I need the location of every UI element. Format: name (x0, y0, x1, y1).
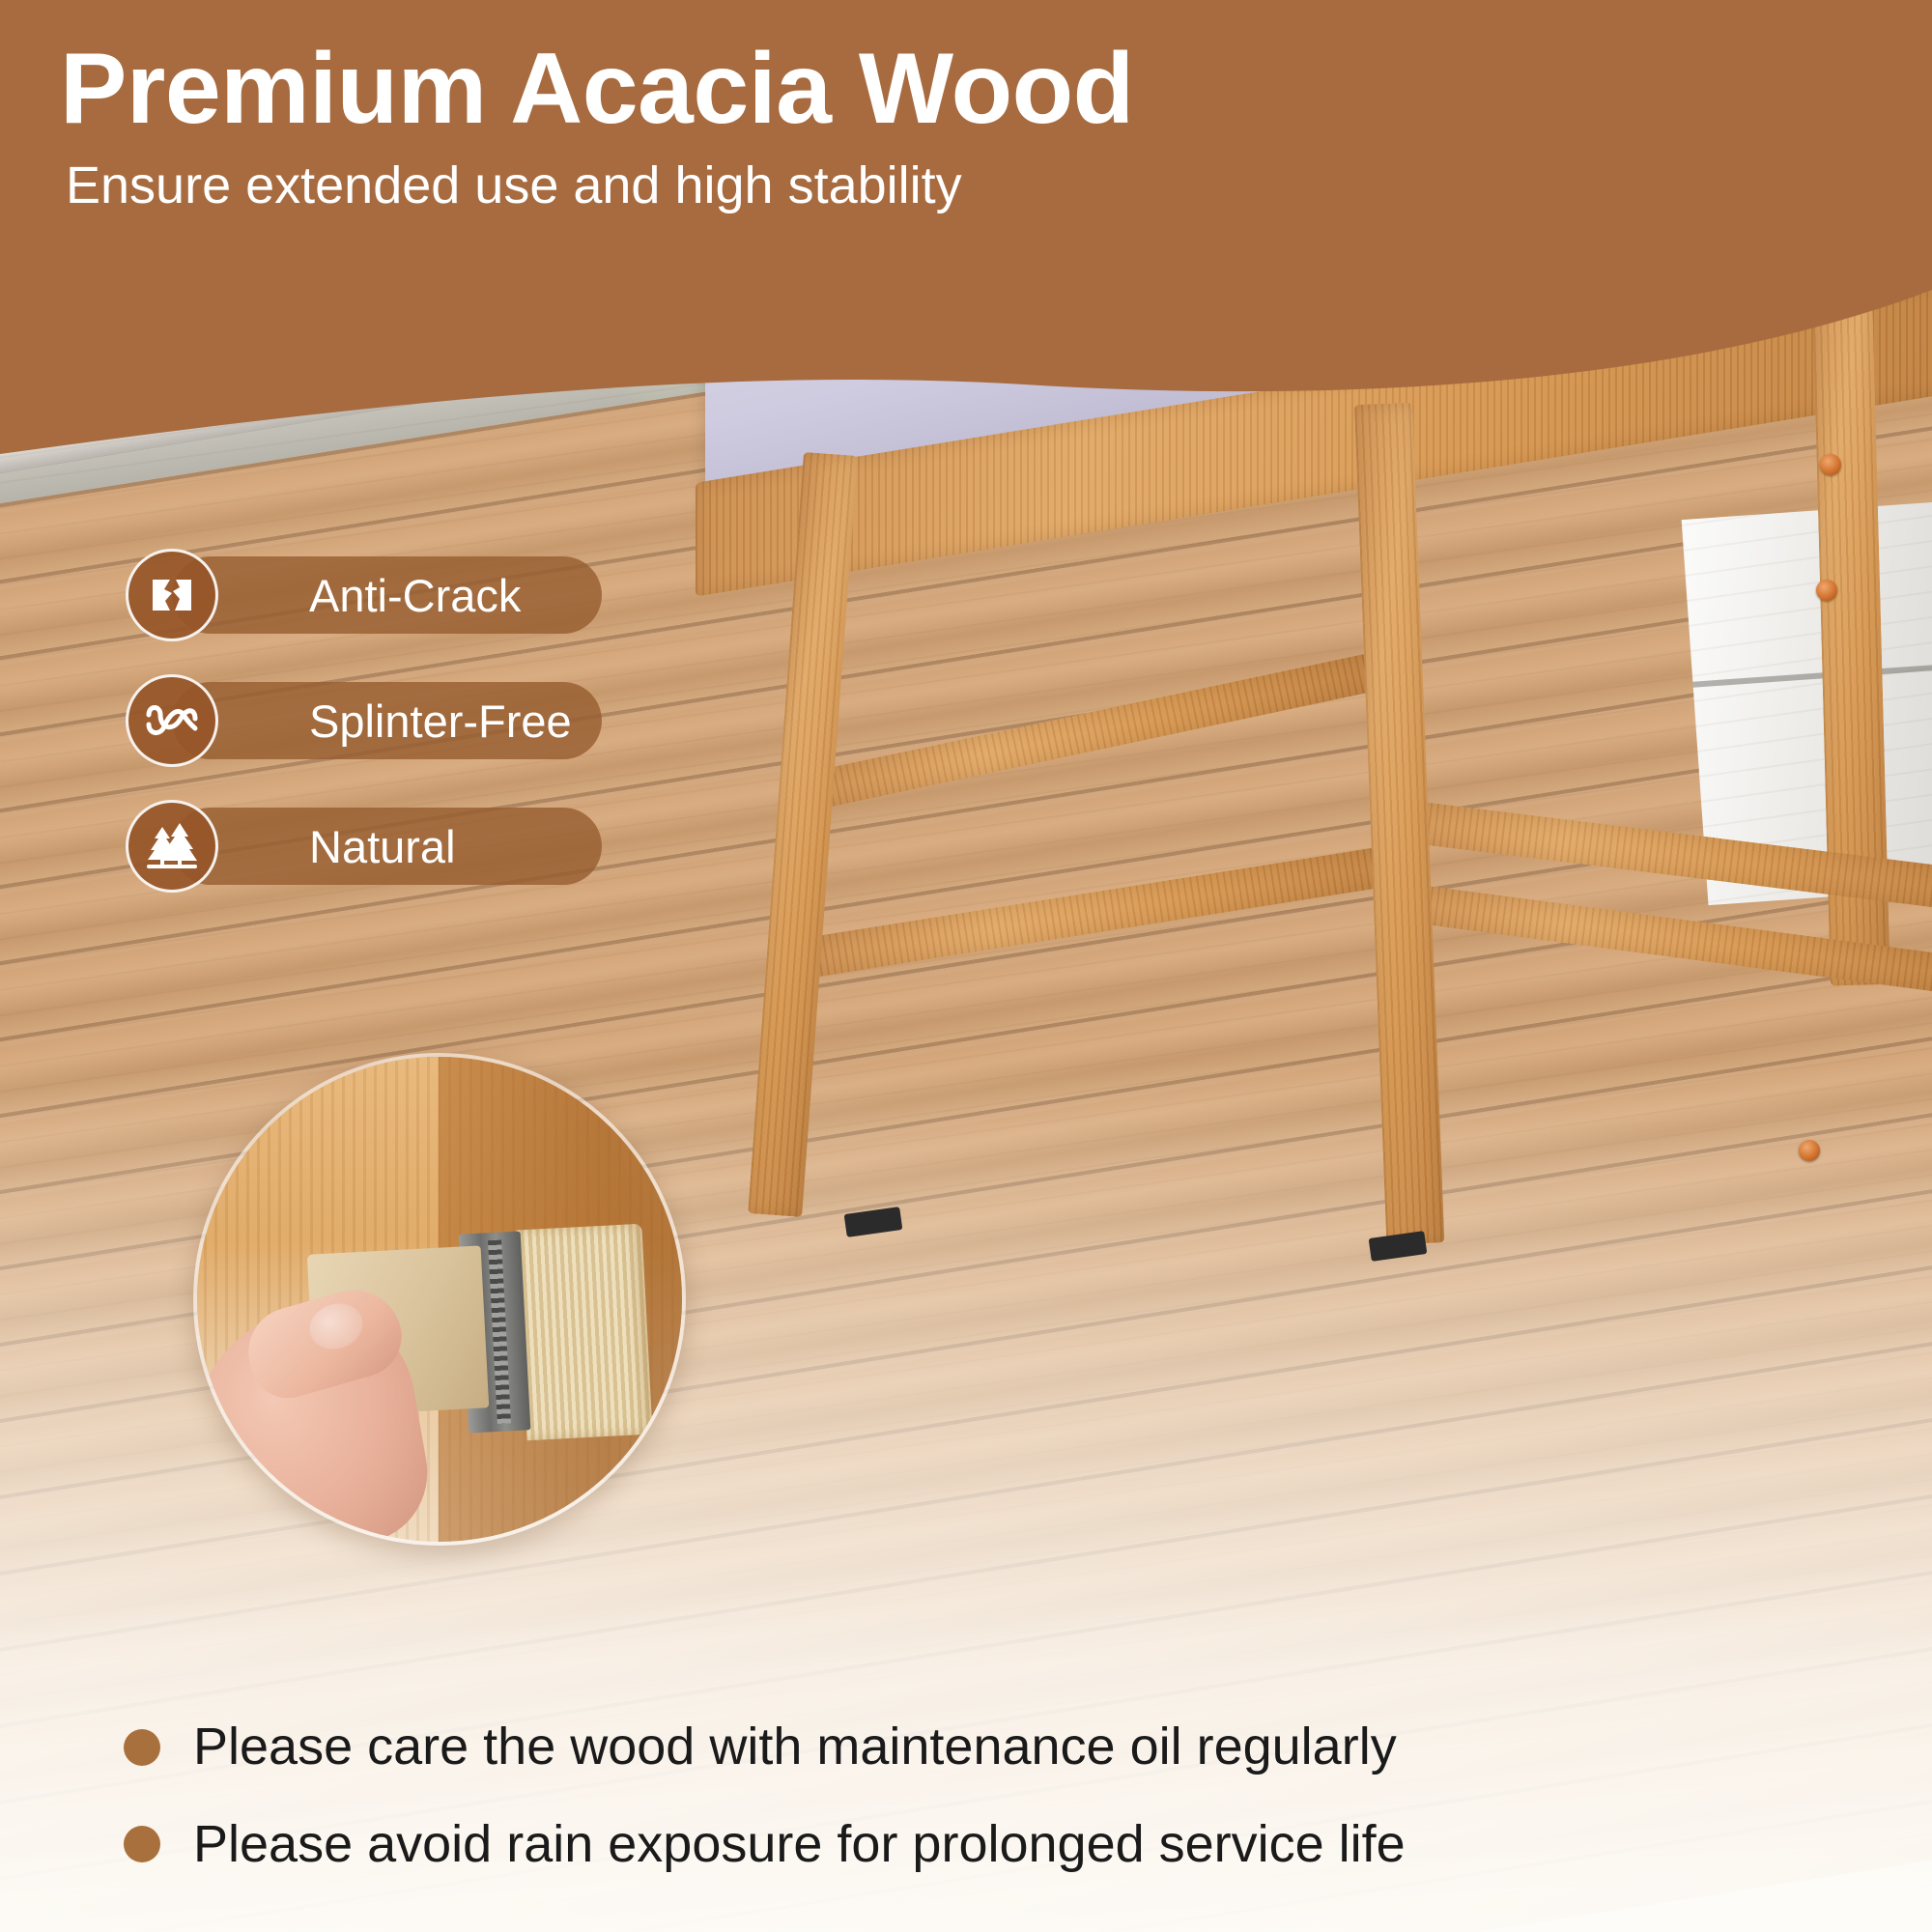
oil-application-closeup (193, 1053, 686, 1546)
feature-label: Natural (309, 820, 456, 873)
care-notes-list: Please care the wood with maintenance oi… (124, 1719, 1406, 1872)
bench-foot-cap-left (844, 1207, 903, 1237)
bench-screw (1820, 454, 1841, 475)
product-feature-poster: Premium Acacia Wood Ensure extended use … (0, 0, 1932, 1932)
brush-bristles (516, 1224, 652, 1441)
bench-lower-stretcher (809, 840, 1426, 978)
feature-anti-crack[interactable]: Anti-Crack (126, 549, 218, 641)
cracked-board-icon (126, 549, 218, 641)
pine-trees-icon (126, 800, 218, 893)
bench-foot-cap-right (1369, 1231, 1428, 1262)
bullet-dot-icon (124, 1729, 160, 1766)
care-note: Please avoid rain exposure for prolonged… (124, 1816, 1406, 1872)
bullet-dot-icon (124, 1826, 160, 1862)
bench-screw (1816, 580, 1837, 601)
feature-pill: Natural (172, 808, 602, 885)
care-note-text: Please care the wood with maintenance oi… (193, 1719, 1397, 1775)
feature-pill: Splinter-Free (172, 682, 602, 759)
page-title: Premium Acacia Wood (60, 37, 1134, 142)
bench-diagonal-brace (812, 651, 1387, 810)
page-subtitle: Ensure extended use and high stability (66, 157, 1134, 214)
feature-natural[interactable]: Natural (126, 800, 218, 893)
feature-label: Anti-Crack (309, 569, 521, 622)
care-note-text: Please avoid rain exposure for prolonged… (193, 1816, 1406, 1872)
feature-splinter-free[interactable]: Splinter-Free (126, 674, 218, 767)
feature-label: Splinter-Free (309, 695, 572, 748)
smooth-wave-icon (126, 674, 218, 767)
bench-screw (1799, 1140, 1820, 1161)
care-note: Please care the wood with maintenance oi… (124, 1719, 1406, 1775)
feature-badge-list: Anti-Crack Splinter-Free (126, 549, 218, 893)
feature-pill: Anti-Crack (172, 556, 602, 634)
header-text-block: Premium Acacia Wood Ensure extended use … (60, 37, 1134, 215)
